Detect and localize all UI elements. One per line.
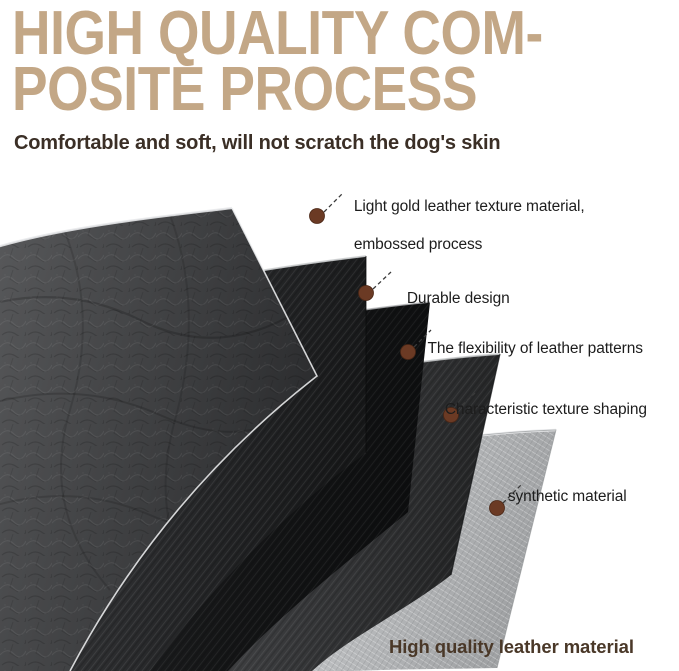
- callout-label-durable-design: Durable design: [390, 270, 510, 327]
- page-title-line-2: POSITE PROCESS: [12, 62, 580, 118]
- page-title-line-1: HIGH QUALITY COM-: [12, 6, 580, 62]
- callout-label-light-gold-leather: Light gold leather texture material, emb…: [337, 178, 585, 273]
- page-subtitle: Comfortable and soft, will not scratch t…: [14, 132, 500, 155]
- callout-label-characteristic-texture: Characteristic texture shaping: [428, 381, 647, 438]
- callout-label-leather-flexibility: The flexibility of leather patterns: [411, 320, 643, 377]
- callout-text-line-1: synthetic material: [508, 488, 627, 505]
- callout-text-line-1: Characteristic texture shaping: [445, 401, 647, 418]
- product-infographic: HIGH QUALITY COM- POSITE PROCESS Comfort…: [0, 0, 679, 671]
- bottom-caption: High quality leather material: [389, 636, 634, 658]
- callout-text-line-1: Durable design: [407, 290, 510, 307]
- callout-label-synthetic-material: synthetic material: [491, 468, 627, 525]
- callout-text-line-2: embossed process: [354, 236, 483, 253]
- page-title: HIGH QUALITY COM- POSITE PROCESS: [12, 0, 672, 118]
- callout-text-line-1: Light gold leather texture material,: [354, 198, 585, 215]
- callout-text-line-1: The flexibility of leather patterns: [428, 340, 643, 357]
